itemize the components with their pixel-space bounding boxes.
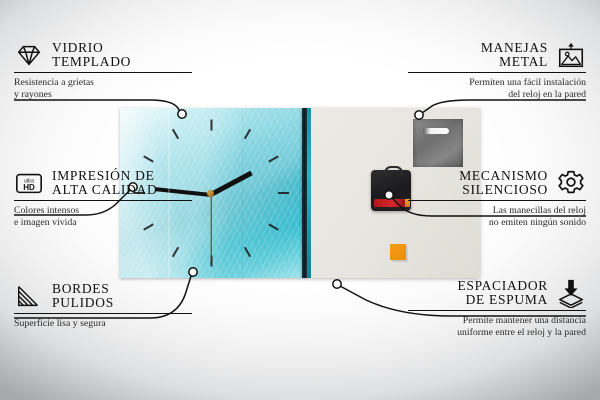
callout-title: IMPRESIÓN DE ALTA CALIDAD: [52, 169, 192, 198]
callout-espaciador-espuma: ESPACIADOR DE ESPUMA Permite mantener un…: [408, 278, 586, 339]
callout-impresion-alta-calidad: ultra HD IMPRESIÓN DE ALTA CALIDAD Color…: [14, 168, 192, 229]
callout-header: VIDRIO TEMPLADO: [14, 40, 192, 72]
callout-header: ESPACIADOR DE ESPUMA: [408, 278, 586, 310]
callout-header: ultra HD IMPRESIÓN DE ALTA CALIDAD: [14, 168, 192, 200]
leader-dot-manejas: [415, 111, 423, 119]
callout-title: MECANISMO SILENCIOSO: [408, 169, 548, 198]
foam-spacer-icon: [556, 278, 586, 308]
callout-description: Permiten una fácil instalación del reloj…: [408, 77, 586, 101]
leader-dot-espaciador: [333, 280, 341, 288]
polished-edges-icon: [14, 281, 44, 311]
callout-header: MANEJAS METAL: [408, 40, 586, 72]
callout-description: Permite mantener una distancia uniforme …: [408, 315, 586, 339]
callout-header: MECANISMO SILENCIOSO: [408, 168, 586, 200]
callout-description: Las manecillas del reloj no emiten ningú…: [408, 205, 586, 229]
callout-mecanismo-silencioso: MECANISMO SILENCIOSO Las manecillas del …: [408, 168, 586, 229]
callout-title: VIDRIO TEMPLADO: [52, 41, 192, 70]
callout-rule: [14, 72, 192, 73]
callout-title: MANEJAS METAL: [408, 41, 548, 70]
callout-rule: [14, 313, 192, 314]
callout-rule: [408, 310, 586, 311]
callout-description: Resistencia a grietas y rayones: [14, 77, 192, 101]
callout-rule: [408, 200, 586, 201]
leader-dot-vidrio: [178, 110, 186, 118]
callout-title: BORDES PULIDOS: [52, 282, 192, 311]
ultra-hd-icon: ultra HD: [14, 168, 44, 198]
leader-dot-bordes: [189, 268, 197, 276]
callout-vidrio-templado: VIDRIO TEMPLADO Resistencia a grietas y …: [14, 40, 192, 101]
picture-hanger-icon: [556, 40, 586, 70]
callout-header: BORDES PULIDOS: [14, 281, 192, 313]
svg-text:HD: HD: [23, 183, 35, 192]
diamond-icon: [14, 40, 44, 70]
callout-rule: [14, 200, 192, 201]
gear-icon: [556, 168, 586, 198]
callout-bordes-pulidos: BORDES PULIDOS Superficie lisa y segura: [14, 281, 192, 330]
leader-vidrio: [14, 100, 180, 112]
callout-description: Colores intensos e imagen vívida: [14, 205, 192, 229]
leader-manejas: [422, 100, 586, 113]
callout-title: ESPACIADOR DE ESPUMA: [408, 279, 548, 308]
callout-description: Superficie lisa y segura: [14, 318, 192, 330]
callout-rule: [408, 72, 586, 73]
callout-manejas-metal: MANEJAS METAL Permiten una fácil instala…: [408, 40, 586, 101]
leader-dot-mecanismo: [385, 191, 393, 199]
